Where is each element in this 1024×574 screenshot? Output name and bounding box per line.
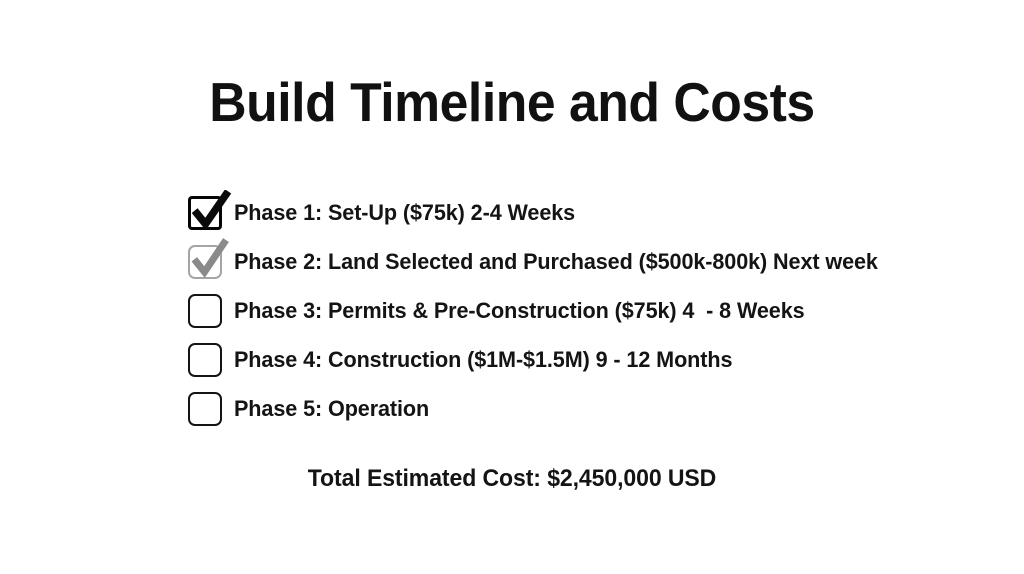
checklist-item-phase-2[interactable]: Phase 2: Land Selected and Purchased ($5… xyxy=(188,237,988,286)
checklist-item-phase-3[interactable]: Phase 3: Permits & Pre-Construction ($75… xyxy=(188,286,988,335)
checklist-item-label: Phase 2: Land Selected and Purchased ($5… xyxy=(234,249,878,275)
checkbox-phase-4[interactable] xyxy=(188,343,222,377)
checklist-item-phase-5[interactable]: Phase 5: Operation xyxy=(188,384,988,433)
checklist-item-label: Phase 5: Operation xyxy=(234,396,429,422)
checkmark-icon xyxy=(187,238,231,282)
checklist-item-label: Phase 4: Construction ($1M-$1.5M) 9 - 12… xyxy=(234,347,732,373)
page-title: Build Timeline and Costs xyxy=(31,72,994,132)
slide-canvas: Build Timeline and Costs Phase 1: Set-Up… xyxy=(0,0,1024,574)
checkbox-phase-1[interactable] xyxy=(188,196,222,230)
checkmark-icon xyxy=(188,190,232,234)
checklist-item-phase-4[interactable]: Phase 4: Construction ($1M-$1.5M) 9 - 12… xyxy=(188,335,988,384)
total-estimated-cost: Total Estimated Cost: $2,450,000 USD xyxy=(20,464,1003,494)
checkbox-phase-2[interactable] xyxy=(188,245,222,279)
checklist-item-phase-1[interactable]: Phase 1: Set-Up ($75k) 2-4 Weeks xyxy=(188,188,988,237)
checkbox-phase-5[interactable] xyxy=(188,392,222,426)
checklist-item-label: Phase 1: Set-Up ($75k) 2-4 Weeks xyxy=(234,200,575,226)
phase-checklist: Phase 1: Set-Up ($75k) 2-4 Weeks Phase 2… xyxy=(188,188,988,433)
checkbox-phase-3[interactable] xyxy=(188,294,222,328)
checklist-item-label: Phase 3: Permits & Pre-Construction ($75… xyxy=(234,298,805,324)
